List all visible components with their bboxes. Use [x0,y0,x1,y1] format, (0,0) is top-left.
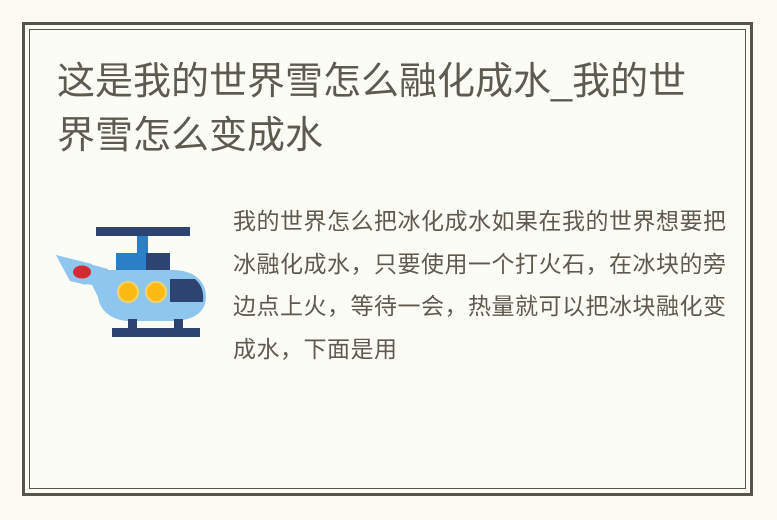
outer-frame-border: 这是我的世界雪怎么融化成水_我的世界雪怎么变成水 [22,22,753,496]
engine-housing-left-shape [116,253,146,270]
rotor-blade-shape [96,227,190,236]
porthole-right-shape [147,283,165,301]
porthole-left-shape [119,283,137,301]
engine-housing-right-shape [146,253,170,270]
landing-skid-shape [112,328,200,337]
article-body: 我的世界怎么把冰化成水如果在我的世界想要把冰融化成水，只要使用一个打火石，在冰块… [233,193,738,371]
page-root: 这是我的世界雪怎么融化成水_我的世界雪怎么变成水 [0,0,777,520]
nose-light-shape [73,266,91,279]
page-title: 这是我的世界雪怎么融化成水_我的世界雪怎么变成水 [57,55,687,163]
helicopter-illustration [37,193,233,339]
cockpit-window-shape [170,279,203,302]
helicopter-icon [52,213,218,339]
article-content: 我的世界怎么把冰化成水如果在我的世界想要把冰融化成水，只要使用一个打火石，在冰块… [37,193,738,483]
